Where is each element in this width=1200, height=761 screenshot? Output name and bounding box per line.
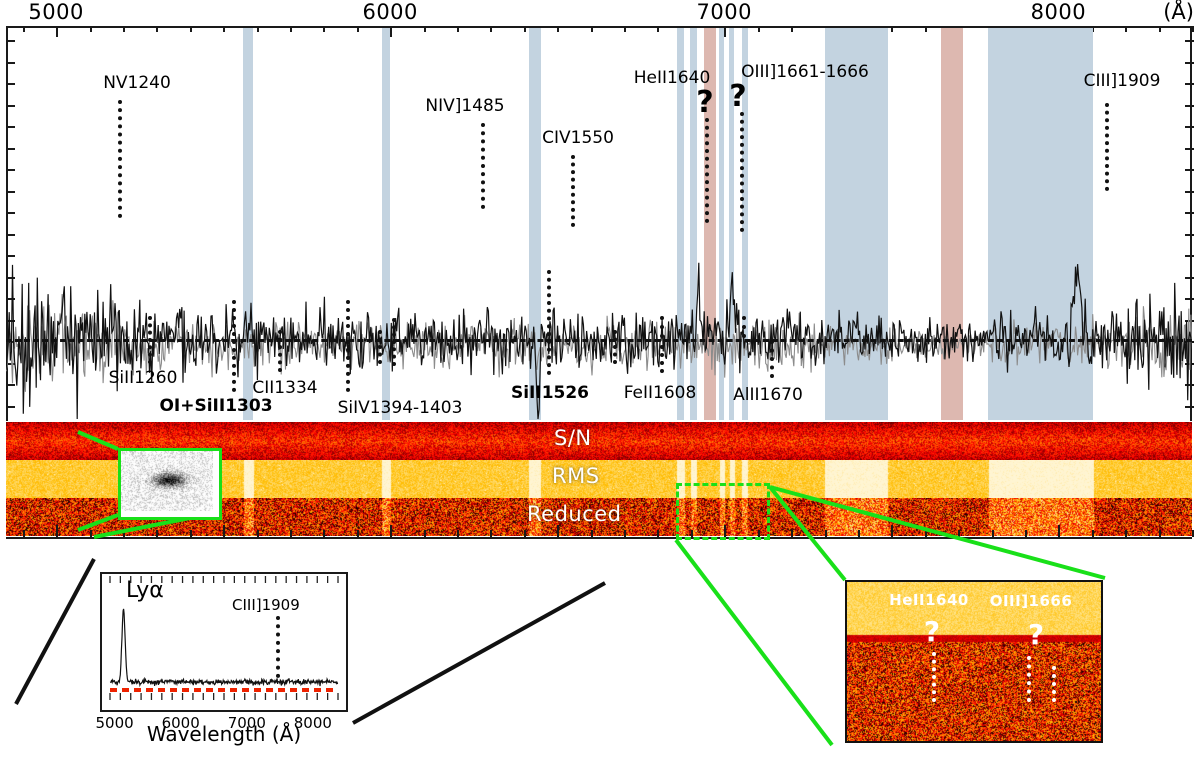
inset-oiii-label: OIII]1666 xyxy=(990,592,1073,610)
absorption-line-label: CII1334 xyxy=(252,378,317,398)
inset-heii-dots xyxy=(932,652,936,702)
bottom-axis-tick xyxy=(457,530,459,537)
inset-lya-label: Lyα xyxy=(126,578,164,603)
object-cutout-thumbnail xyxy=(118,448,222,520)
zoom-region-box xyxy=(676,483,770,540)
emission-line-label: OIII]1661-1666 xyxy=(741,62,869,82)
full-spectrum-inset: Lyα CIII]1909 xyxy=(100,572,348,712)
inset-heii-question: ? xyxy=(924,618,940,646)
inset-heii-label: HeII1640 xyxy=(889,591,969,609)
heii-oiii-zoom-inset: HeII1640 OIII]1666 ? ? xyxy=(845,580,1103,743)
bottom-axis-tick xyxy=(1092,530,1094,537)
absorption-line-marker xyxy=(232,300,236,392)
absorption-line-marker xyxy=(392,318,396,366)
absorption-line-marker xyxy=(148,316,152,364)
spectrum-trace xyxy=(6,27,1192,421)
bottom-axis-tick xyxy=(1192,530,1194,537)
wavelength-unit-label: (Å) xyxy=(1163,0,1194,24)
emission-line-marker xyxy=(118,100,122,218)
bottom-axis-tick xyxy=(591,530,593,537)
panel-label-rms: RMS xyxy=(552,464,600,488)
bottom-axis-tick xyxy=(657,530,659,537)
bottom-axis-tick xyxy=(524,530,526,537)
emission-line-label: NIV]1485 xyxy=(425,96,504,116)
inset-oiii-dots-b xyxy=(1052,666,1056,702)
absorption-line-marker xyxy=(346,300,350,392)
absorption-line-label: SiII1260 xyxy=(109,368,178,388)
bottom-axis-tick xyxy=(424,530,426,537)
bottom-axis-tick xyxy=(56,525,58,537)
bottom-axis-tick xyxy=(90,530,92,537)
bottom-axis-tick xyxy=(357,530,359,537)
emission-line-marker xyxy=(740,112,744,232)
emission-line-marker xyxy=(481,123,485,209)
emission-line-label: CIV1550 xyxy=(542,128,614,148)
inset-ciii-marker xyxy=(276,616,280,678)
inset-oiii-dots xyxy=(1027,656,1031,702)
absorption-line-marker xyxy=(660,345,664,373)
bottom-axis-tick xyxy=(891,525,893,537)
bottom-axis-tick xyxy=(624,530,626,537)
emission-line-marker xyxy=(705,118,709,223)
panel-label-sn: S/N xyxy=(554,426,592,450)
absorption-line-label: OI+SiII1303 xyxy=(159,396,272,416)
bottom-axis-tick xyxy=(557,525,559,537)
absorption-line-label: FeII1608 xyxy=(624,383,697,403)
inset-oiii-question: ? xyxy=(1028,621,1044,649)
absorption-line-label: SiIV1394-1403 xyxy=(338,398,463,418)
absorption-line-marker xyxy=(613,330,617,364)
bottom-axis xyxy=(6,537,1192,539)
axis-tick-label: 8000 xyxy=(1031,0,1086,24)
bottom-axis-tick xyxy=(290,530,292,537)
question-mark: ? xyxy=(696,88,713,118)
bottom-axis-tick xyxy=(1025,530,1027,537)
emission-line-label: CIII]1909 xyxy=(1084,71,1161,91)
bottom-axis-tick xyxy=(123,530,125,537)
bottom-axis-tick xyxy=(1125,530,1127,537)
emission-line-marker xyxy=(1105,103,1109,191)
bottom-axis-tick xyxy=(257,530,259,537)
bottom-axis-tick xyxy=(858,530,860,537)
bottom-axis-tick xyxy=(23,530,25,537)
absorption-line-marker xyxy=(278,330,282,372)
axis-tick-label: 6000 xyxy=(362,0,417,24)
bottom-axis-tick xyxy=(323,530,325,537)
bottom-axis-tick xyxy=(925,530,927,537)
bottom-axis-tick xyxy=(1159,530,1161,537)
bottom-axis-tick xyxy=(1058,525,1060,537)
bottom-axis-tick xyxy=(958,530,960,537)
absorption-line-label: SiII1526 xyxy=(511,383,589,403)
bottom-axis-tick xyxy=(390,525,392,537)
axis-tick xyxy=(1192,26,1194,32)
absorption-line-marker xyxy=(547,270,551,375)
absorption-line-marker xyxy=(770,340,774,378)
bottom-axis-tick xyxy=(825,530,827,537)
bottom-axis-tick xyxy=(992,530,994,537)
axis-tick-label: 5000 xyxy=(28,0,83,24)
absorption-line-label: AlII1670 xyxy=(733,385,803,405)
inset-x-axis-label: Wavelength (Å) xyxy=(100,722,348,746)
bottom-axis-tick xyxy=(791,530,793,537)
bottom-axis-tick xyxy=(223,525,225,537)
bottom-axis-tick xyxy=(190,530,192,537)
emission-line-label: NV1240 xyxy=(103,73,171,93)
inset-ciii-label: CIII]1909 xyxy=(232,596,300,614)
bottom-axis-tick xyxy=(490,530,492,537)
absorption-line-marker xyxy=(660,316,664,338)
question-mark: ? xyxy=(729,82,746,112)
panel-label-reduced: Reduced xyxy=(527,502,622,526)
spectrum-figure: 5000600070008000 (Å) NV1240NIV]1485CIV15… xyxy=(0,0,1200,761)
axis-tick-label: 7000 xyxy=(697,0,752,24)
emission-line-marker xyxy=(571,155,575,227)
absorption-line-marker xyxy=(742,316,746,338)
zero-flux-dashed-line xyxy=(6,339,1192,342)
bottom-axis-tick xyxy=(156,530,158,537)
absorption-line-marker xyxy=(378,330,382,364)
